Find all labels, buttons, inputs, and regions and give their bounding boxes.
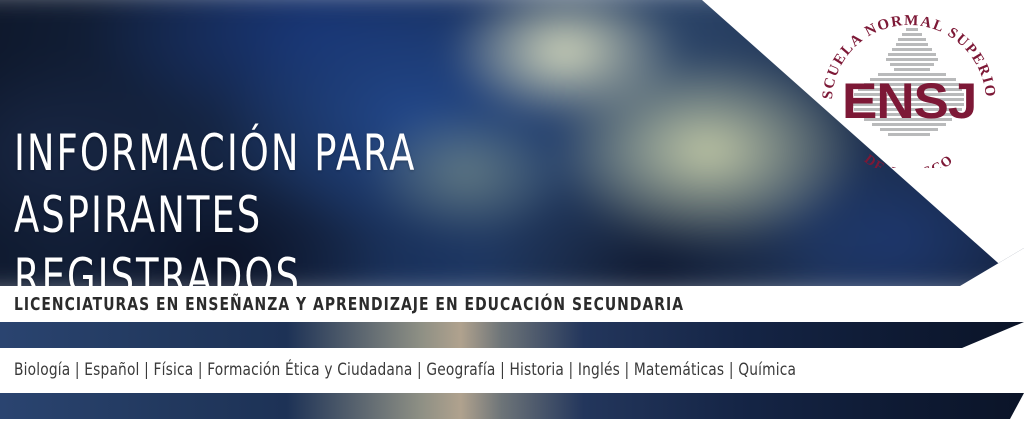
logo-wordmark: ENSJ: [842, 72, 976, 128]
program-list: Biología | Español | Física | Formación …: [14, 360, 796, 380]
accent-stripe-lower: [0, 393, 1024, 419]
page-title: INFORMACIÓN PARA ASPIRANTES REGISTRADOS: [14, 122, 670, 308]
accent-stripe-upper: [0, 322, 1024, 348]
ensj-logo: ESCUELA NORMAL SUPERIOR DE JALISCO ENSJ: [818, 6, 1000, 168]
subtitle-text: LICENCIATURAS EN ENSEÑANZA Y APRENDIZAJE…: [14, 294, 684, 315]
svg-text:DE JALISCO: DE JALISCO: [861, 152, 957, 168]
institutional-banner: INFORMACIÓN PARA ASPIRANTES REGISTRADOS: [0, 0, 1024, 438]
